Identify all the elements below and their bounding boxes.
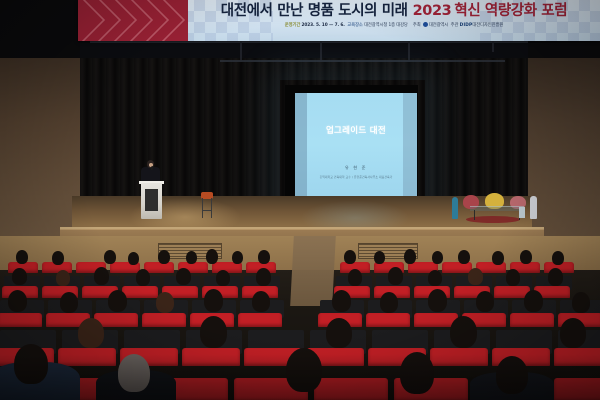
attendee-head — [216, 270, 230, 286]
cat-figurine — [530, 196, 537, 219]
attendee-head — [400, 352, 434, 394]
attendee-head — [286, 348, 322, 392]
screen-shadow-band-right — [403, 93, 417, 196]
screen-shadow-band-left — [295, 93, 307, 196]
seat — [182, 348, 240, 366]
slide-presenter-affiliation: 홍익대학교 건축대학 교수 / 유현준건축사사무소 대표건축가 — [295, 175, 417, 179]
truss-drop-4 — [492, 41, 494, 52]
banner-organizer-name: 대전디자인진흥원 — [472, 23, 503, 28]
city-emblem-icon — [423, 22, 428, 27]
attendee-head — [78, 318, 104, 348]
attendee-head — [186, 251, 197, 264]
attendee-head — [12, 268, 27, 285]
banner-title-main: 대전에서 만난 명품 도시의 미래 — [221, 3, 408, 19]
seat — [0, 313, 42, 327]
attendee-head — [258, 250, 270, 264]
auditorium-photo: 대전에서 만난 명품 도시의 미래2023혁신 역량강화 포럼 운영기간 202… — [0, 0, 600, 400]
attendee-head — [476, 291, 494, 312]
attendee-head — [572, 292, 590, 313]
attendee-head — [56, 270, 70, 286]
attendee-head — [496, 356, 528, 394]
attendee-head — [552, 251, 564, 265]
attendee-head — [108, 290, 127, 312]
stage-stool-leg-2 — [211, 198, 212, 218]
banner-period-tag: 운영기간 — [285, 23, 300, 28]
rabbit-figurine — [452, 197, 458, 219]
seat — [238, 313, 282, 327]
attendee-head — [450, 316, 477, 348]
attendee-head — [404, 249, 416, 264]
attendee-head — [176, 268, 191, 285]
center-aisle — [290, 236, 336, 306]
stage-sign-card — [519, 207, 525, 218]
seat — [430, 348, 488, 366]
banner-host-label: 주최 — [413, 23, 421, 28]
banner-place-value: 대전광역시청 1층 대강당 — [364, 23, 408, 28]
attendee-head — [16, 250, 28, 264]
attendee-head — [524, 290, 543, 312]
slide-presenter-name: 유 현 준 — [295, 165, 417, 171]
seat — [142, 313, 186, 327]
banner-text-block: 대전에서 만난 명품 도시의 미래2023혁신 역량강화 포럼 운영기간 202… — [196, 2, 592, 29]
attendee-head — [326, 318, 352, 348]
attendee-head — [252, 291, 270, 312]
truss-drop-2 — [320, 41, 322, 60]
stage-coffee-table — [470, 206, 524, 211]
seat — [442, 262, 472, 273]
banner-host-name: 대전광역시 — [429, 23, 448, 28]
banner-title-year: 2023 — [413, 3, 452, 19]
seat — [366, 313, 410, 327]
banner-place-tag: 교육장소 — [347, 23, 362, 28]
lighting-truss-lower — [220, 60, 505, 62]
lectern-front-panel — [145, 189, 158, 211]
attendee-head — [428, 289, 447, 312]
attendee-head — [458, 250, 470, 264]
attendee-head — [204, 289, 223, 312]
seat — [554, 348, 600, 366]
seat — [314, 378, 388, 400]
stage-stool-leg-1 — [202, 198, 203, 218]
seat — [510, 313, 554, 327]
chevron-right-icon — [78, 0, 188, 41]
attendee-head — [388, 267, 403, 285]
attendee-head — [468, 268, 483, 285]
banner-subtitle: 운영기간 2023. 5. 10 — 7. 6. 교육장소 대전광역시청 1층 … — [196, 22, 592, 29]
attendee-head — [432, 251, 443, 264]
left-wall-shadow — [0, 0, 80, 58]
attendee-head — [492, 251, 504, 265]
event-banner: 대전에서 만난 명품 도시의 미래2023혁신 역량강화 포럼 운영기간 202… — [78, 0, 600, 41]
seat — [122, 286, 158, 298]
attendee-head — [380, 292, 398, 313]
attendee-head — [14, 344, 48, 384]
projection-screen: 업그레이드 대전 유 현 준 홍익대학교 건축대학 교수 / 유현준건축사사무소… — [295, 93, 417, 196]
slide-title: 업그레이드 대전 — [295, 124, 417, 136]
attendee-head — [158, 250, 170, 264]
attendee-head — [200, 316, 227, 348]
attendee-head — [8, 290, 27, 312]
table-leg-1 — [474, 210, 475, 220]
attendee-head — [374, 251, 385, 264]
truss-drop-3 — [408, 41, 410, 60]
attendee-head — [332, 290, 351, 312]
attendee-head — [428, 270, 442, 286]
attendee-head — [256, 268, 271, 286]
truss-drop-1 — [240, 41, 242, 60]
seat — [554, 378, 600, 400]
attendee-head — [128, 252, 139, 265]
banner-title-rest: 혁신 역량강화 포럼 — [454, 3, 567, 19]
attendee-head — [156, 292, 174, 313]
attendee-head — [206, 249, 218, 264]
attendee-head — [344, 250, 356, 264]
banner-period-value: 2023. 5. 10 — 7. 6. — [302, 23, 345, 28]
attendee-head — [94, 267, 109, 285]
attendee-head — [506, 269, 520, 286]
attendee-head — [520, 250, 532, 264]
attendee-head — [136, 269, 150, 286]
stage-stool-footrest — [202, 210, 212, 211]
banner-title: 대전에서 만난 명품 도시의 미래2023혁신 역량강화 포럼 — [196, 2, 592, 21]
didp-logo-icon: DIDP — [460, 23, 473, 28]
attendee-head — [52, 251, 64, 265]
attendee-head — [118, 354, 150, 392]
banner-organizer-label: 주관 — [451, 23, 459, 28]
lighting-truss-upper — [90, 41, 530, 43]
attendee-head — [232, 251, 243, 264]
attendee-head — [60, 292, 78, 313]
attendee-head — [348, 269, 362, 286]
attendee-head — [560, 318, 586, 348]
attendee-head — [548, 268, 563, 286]
attendee-head — [104, 250, 116, 264]
seat — [58, 348, 116, 366]
lectern — [141, 183, 162, 219]
